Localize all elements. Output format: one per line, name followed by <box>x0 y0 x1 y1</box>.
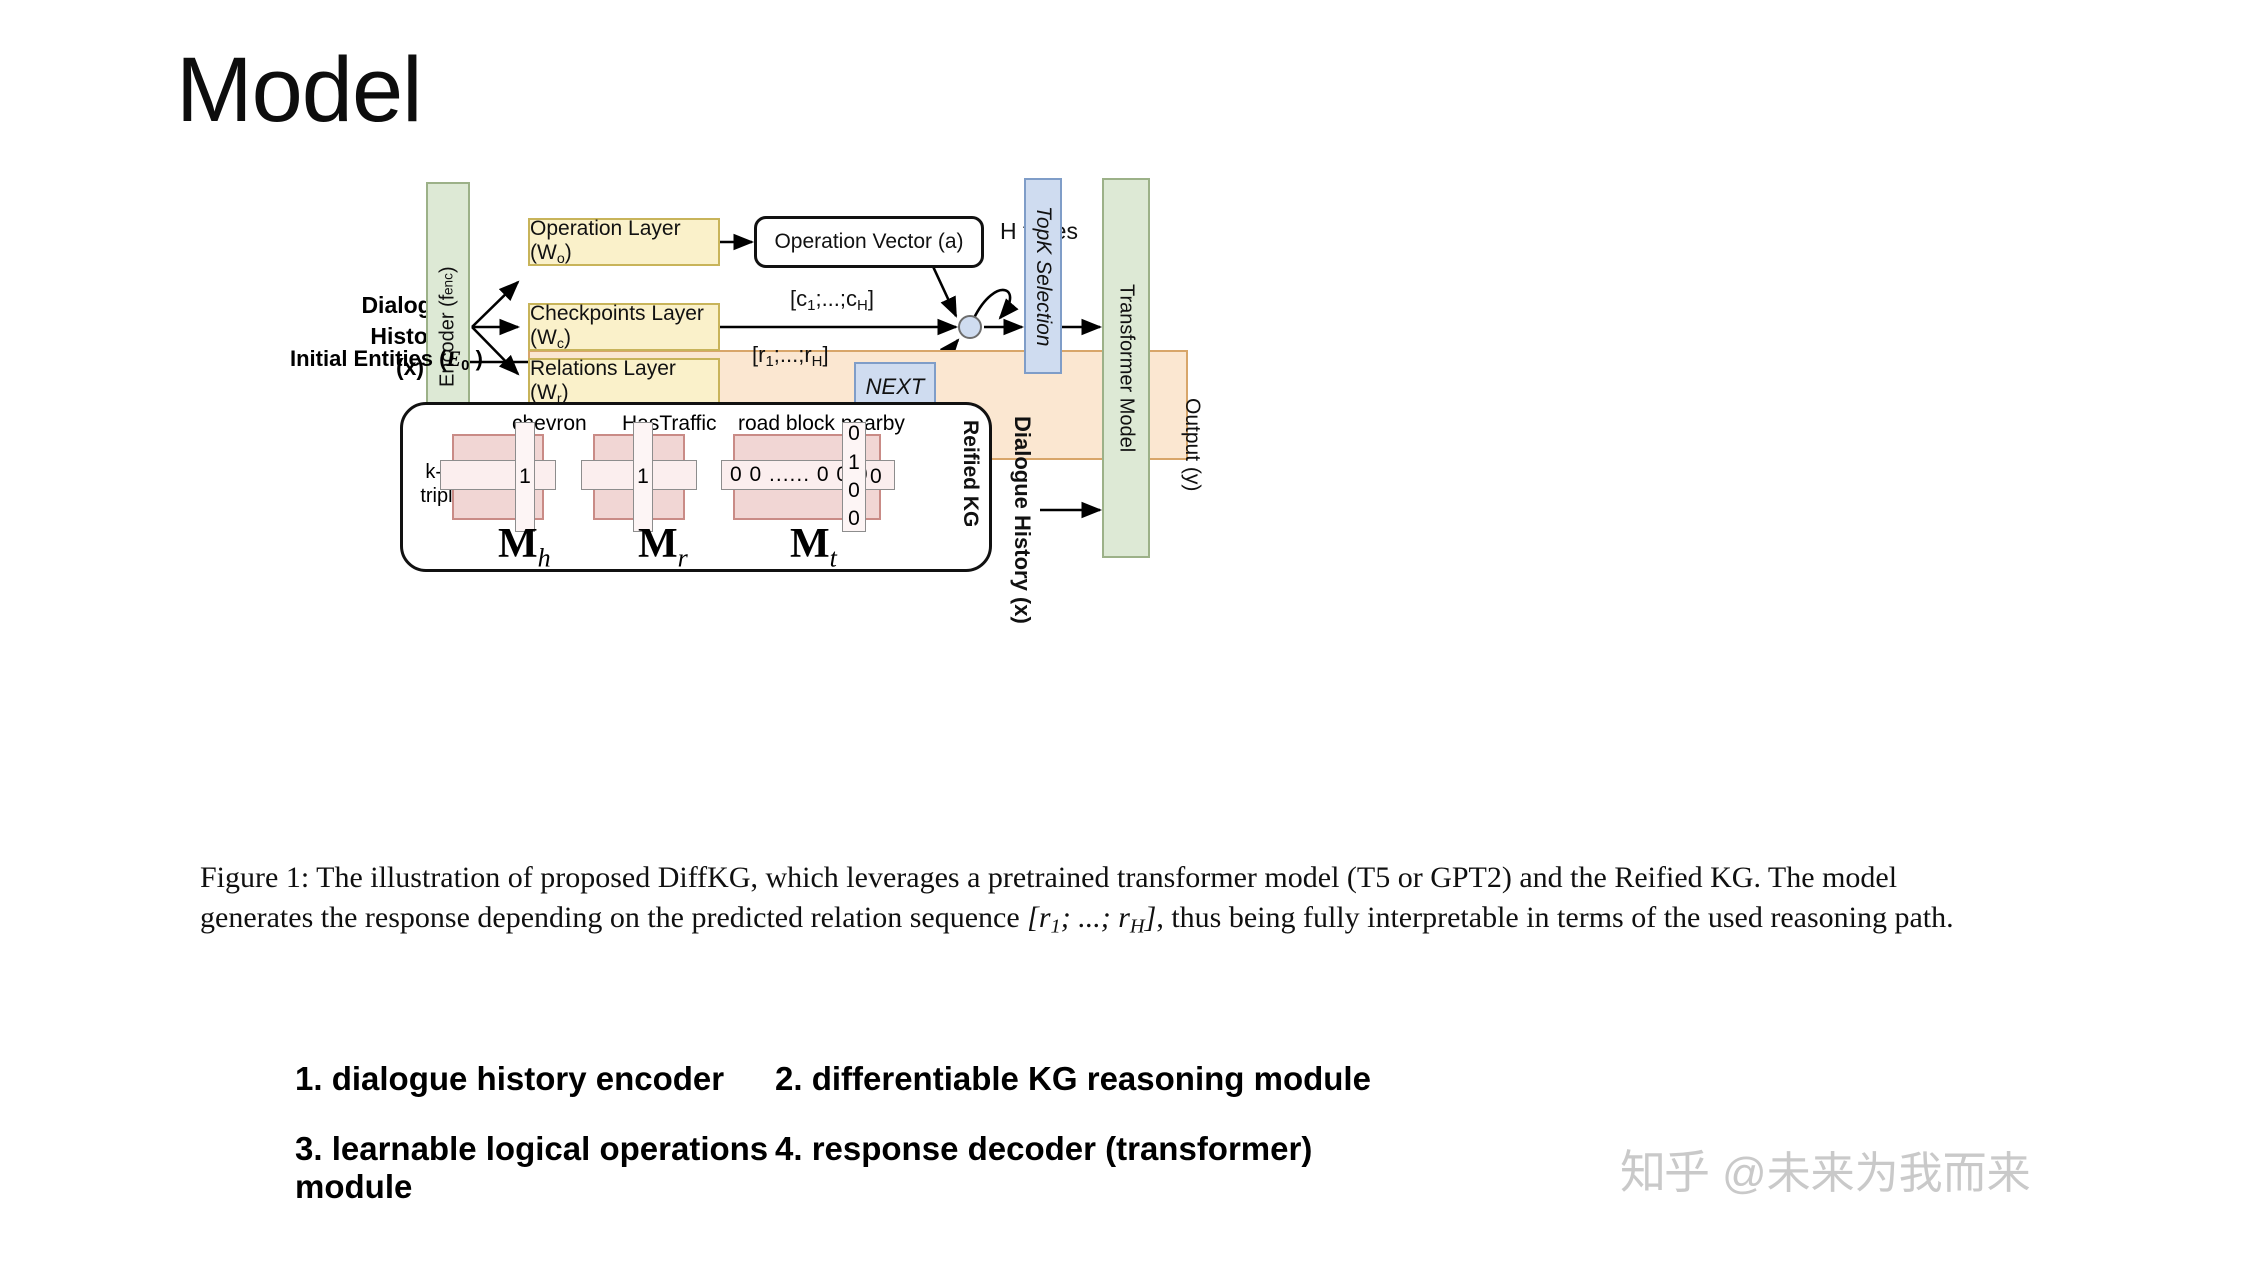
initial-entities-label: Initial Entities (E0 ) <box>290 346 483 374</box>
matrix-mt-col-1: 1 <box>848 449 860 477</box>
module-item-4: 4. response decoder (transformer) <box>775 1130 1675 1206</box>
model-architecture-figure: Dialogue History (x) Encoder (fenc) Oper… <box>400 190 1820 800</box>
checkpoints-sequence-label: [c1;...;cH] <box>790 286 874 314</box>
transformer-model-box[interactable]: Transformer Model <box>1102 178 1150 558</box>
encoder-sub: enc <box>441 273 456 295</box>
module-item-2: 2. differentiable KG reasoning module <box>775 1060 1675 1098</box>
matrix-mh-value: 1 <box>519 465 531 489</box>
column-head-roadblock: road block nearby <box>738 412 905 436</box>
relations-sequence-label: [r1;...;rH] <box>752 342 829 370</box>
matrix-mh-row-highlight <box>440 460 556 490</box>
module-item-1: 1. dialogue history encoder <box>295 1060 775 1098</box>
topk-selection-box[interactable]: TopK Selection <box>1024 178 1062 374</box>
module-item-3: 3. learnable logical operations module <box>295 1130 775 1206</box>
matrix-mt-caption: Mt <box>790 520 837 573</box>
matrix-mr-caption: Mr <box>638 520 688 573</box>
reified-kg-label: Reified KG <box>956 416 984 532</box>
caption-part-2: , thus being fully interpretable in term… <box>1156 901 1953 934</box>
matrix-mt-col-3: 0 <box>848 505 860 533</box>
checkpoints-layer-box[interactable]: Checkpoints Layer (Wc) <box>528 303 720 351</box>
relations-layer-box[interactable]: Relations Layer (Wr) <box>528 358 720 406</box>
watermark-handle: @未来为我而来 <box>1722 1137 2031 1201</box>
dialogue-history-input-label: Dialogue History (x) <box>1007 405 1037 635</box>
slide-root: Model <box>0 0 2266 1266</box>
relations-layer-label: Relations Layer (Wr) <box>530 357 718 407</box>
page-title: Model <box>176 44 422 136</box>
matrix-mt-col-2: 0 <box>848 477 860 505</box>
matrix-mh-col-highlight: 1 <box>515 422 535 532</box>
operation-layer-box[interactable]: Operation Layer (Wo) <box>528 218 720 266</box>
caption-sequence: [r1; ...; rH] <box>1027 901 1156 934</box>
next-box-label: NEXT <box>866 374 925 400</box>
matrix-mh-caption: Mh <box>498 520 551 573</box>
matrix-mr-value: 1 <box>637 465 649 489</box>
operation-layer-label: Operation Layer (Wo) <box>530 217 718 267</box>
matrix-mt-row-highlight: 0 0 ...... 0 0 0 <box>721 460 895 490</box>
transformer-model-label: Transformer Model <box>1104 180 1148 556</box>
modules-row-1: 1. dialogue history encoder 2. different… <box>295 1060 1895 1098</box>
operation-vector-box[interactable]: Operation Vector (a) <box>754 216 984 268</box>
checkpoints-layer-label: Checkpoints Layer (Wc) <box>530 302 718 352</box>
topk-selection-label: TopK Selection <box>1026 180 1060 372</box>
operation-vector-label: Operation Vector (a) <box>774 230 963 254</box>
output-label: Output (y) <box>1175 380 1209 510</box>
figure-caption: Figure 1: The illustration of proposed D… <box>200 858 1960 941</box>
matrix-mt-col-highlight: 0 1 0 0 <box>842 422 866 532</box>
watermark: 知乎 @未来为我而来 <box>1620 1136 2031 1202</box>
matrix-mt-col-0: 0 <box>848 420 860 448</box>
script-e-symbol: E <box>446 346 461 371</box>
matrix-mr-col-highlight: 1 <box>633 422 653 532</box>
input-line-1: Dialogue <box>320 290 500 321</box>
matrix-mt-cell-after: 0 <box>870 465 882 489</box>
zhihu-logo: 知乎 <box>1620 1136 1708 1202</box>
